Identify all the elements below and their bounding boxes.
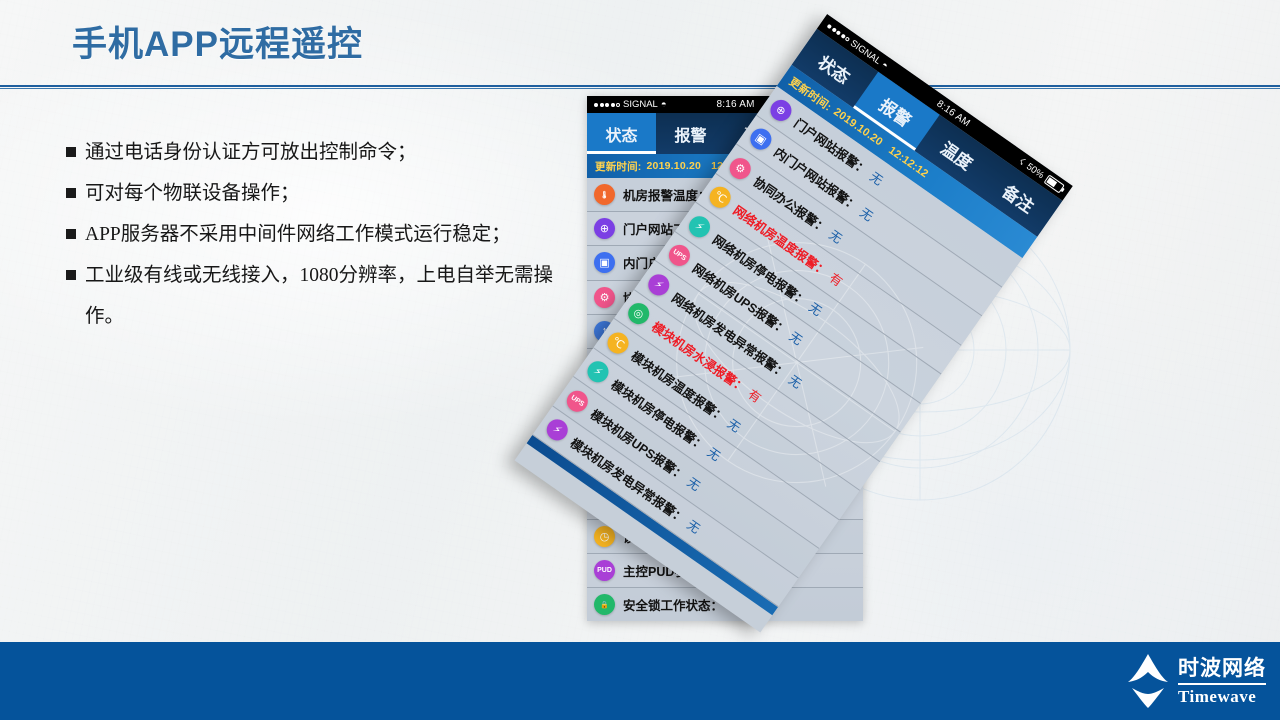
ups-icon: UPS <box>665 241 694 270</box>
page-title: 手机APP远程遥控 <box>72 16 363 67</box>
list-item-value: 无 <box>786 326 807 349</box>
list-item-value: 无 <box>856 202 877 225</box>
carrier-label: SIGNAL <box>623 99 658 110</box>
lock-icon: 🔒 <box>594 594 615 615</box>
water-leak-icon: ◎ <box>624 299 653 328</box>
list-item-value: 无 <box>684 472 705 495</box>
slide-canvas: 手机APP远程遥控 通过电话身份认证方可放出控制命令； 可对每个物联设备操作； … <box>0 0 1280 720</box>
list-item-value: 有 <box>826 268 847 291</box>
company-logo: 时波网络 Timewave <box>1126 652 1266 710</box>
bullet-item: APP服务器不采用中间件网络工作模式运行稳定； <box>66 214 586 255</box>
tab-alarm[interactable]: 报警 <box>656 113 725 154</box>
power-off-icon: ⚡ <box>685 212 714 241</box>
footer-bar <box>0 642 1280 720</box>
list-item-value: 有 <box>745 384 766 407</box>
logo-chinese-name: 时波网络 <box>1178 657 1266 681</box>
bullet-list: 通过电话身份认证方可放出控制命令； 可对每个物联设备操作； APP服务器不采用中… <box>66 132 586 337</box>
header-divider <box>0 85 1280 90</box>
bullet-item: 通过电话身份认证方可放出控制命令； <box>66 132 586 173</box>
update-date-value: 2019.10.20 <box>647 160 702 172</box>
logo-rule <box>1178 683 1266 685</box>
list-item-value: 无 <box>704 442 725 465</box>
bullet-item: 可对每个物联设备操作； <box>66 173 586 214</box>
thermometer-icon: 🌡 <box>594 184 615 205</box>
power-off-icon: ⚡ <box>583 357 612 386</box>
monitor-icon: ▣ <box>746 125 775 154</box>
tab-status[interactable]: 状态 <box>587 113 656 154</box>
ups-icon: UPS <box>563 386 592 415</box>
wave-logo-icon <box>1126 652 1170 710</box>
monitor-icon: ▣ <box>594 252 615 273</box>
list-item-value: 无 <box>826 224 847 247</box>
list-item-value: 无 <box>785 369 806 392</box>
org-chart-icon: ⚙ <box>726 154 755 183</box>
list-item-value: 无 <box>724 413 745 436</box>
update-time-label: 更新时间: <box>595 159 642 174</box>
list-item-value: 无 <box>867 166 888 189</box>
temperature-icon: ℃ <box>604 328 633 357</box>
bullet-text: 工业级有线或无线接入，1080分辨率，上电自举无需操作。 <box>85 255 586 337</box>
bullet-text: 可对每个物联设备操作； <box>85 173 300 214</box>
generator-icon: ⚡ <box>542 415 571 444</box>
temperature-icon: ℃ <box>705 183 734 212</box>
bullet-text: APP服务器不采用中间件网络工作模式运行稳定； <box>85 214 511 255</box>
bullet-square-icon <box>66 147 76 157</box>
globe-icon: ⊕ <box>594 218 615 239</box>
list-item-value: 无 <box>684 515 705 538</box>
bullet-square-icon <box>66 229 76 239</box>
bullet-square-icon <box>66 270 76 280</box>
bullet-square-icon <box>66 188 76 198</box>
bullet-item: 工业级有线或无线接入，1080分辨率，上电自举无需操作。 <box>66 255 586 337</box>
logo-english-name: Timewave <box>1178 687 1256 706</box>
globe-icon: ⊕ <box>766 96 795 125</box>
list-item-value: 无 <box>806 297 827 320</box>
bullet-text: 通过电话身份认证方可放出控制命令； <box>85 132 417 173</box>
org-chart-icon: ⚙ <box>594 287 615 308</box>
pud-icon: PUD <box>594 560 615 581</box>
signal-dots-icon <box>594 103 620 107</box>
generator-icon: ⚡ <box>644 270 673 299</box>
